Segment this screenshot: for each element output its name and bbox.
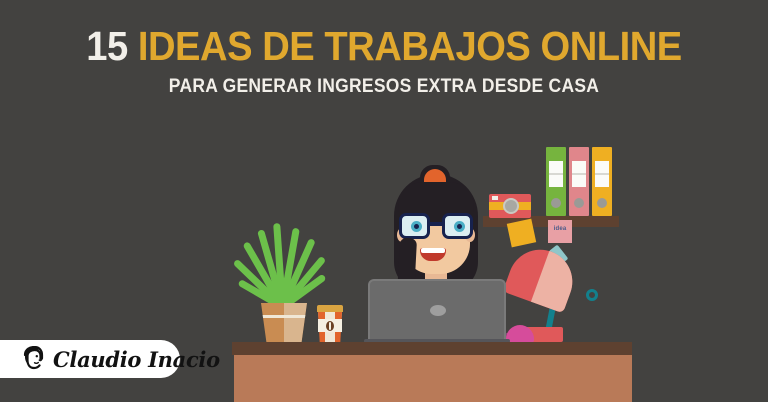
camera-flash bbox=[492, 196, 498, 200]
binder-label bbox=[595, 161, 609, 187]
binder-green bbox=[546, 147, 566, 216]
title-main: IDEAS DE TRABAJOS ONLINE bbox=[138, 23, 682, 69]
desk-front-panel bbox=[234, 355, 632, 402]
lamp-shade bbox=[503, 241, 582, 314]
face-profile-icon bbox=[22, 346, 46, 372]
graphic-canvas: 15 IDEAS DE TRABAJOS ONLINE PARA GENERAR… bbox=[0, 0, 768, 402]
binder-ring-icon bbox=[574, 198, 584, 208]
lamp-joint bbox=[586, 289, 598, 301]
camera-lens bbox=[503, 198, 519, 214]
sticky-note-text: idea bbox=[548, 226, 572, 232]
brand-logo[interactable]: Claudio Inacio bbox=[0, 340, 180, 378]
eye-left bbox=[411, 221, 422, 232]
cup-lid bbox=[317, 305, 343, 312]
binder-label bbox=[549, 161, 563, 187]
teeth bbox=[421, 248, 445, 253]
camera-icon bbox=[489, 194, 531, 218]
binder-label bbox=[572, 161, 586, 187]
binder-yellow bbox=[592, 147, 612, 216]
eye-right bbox=[454, 221, 465, 232]
pot-band bbox=[261, 315, 307, 318]
laptop-logo-icon bbox=[430, 305, 446, 316]
coffee-bean-icon bbox=[326, 321, 334, 331]
page-subtitle: PARA GENERAR INGRESOS EXTRA DESDE CASA bbox=[31, 76, 738, 98]
coffee-cup bbox=[317, 305, 343, 343]
glasses-bridge bbox=[430, 222, 442, 226]
binder-ring-icon bbox=[551, 198, 561, 208]
desk-surface bbox=[232, 342, 632, 355]
glasses-lens-left bbox=[399, 213, 430, 239]
eyeglasses-icon bbox=[399, 213, 473, 239]
lamp-shade-highlight bbox=[531, 251, 581, 313]
page-title: 15 IDEAS DE TRABAJOS ONLINE bbox=[27, 24, 741, 68]
binder-ring-icon bbox=[597, 198, 607, 208]
brand-name: Claudio Inacio bbox=[53, 347, 220, 372]
header: 15 IDEAS DE TRABAJOS ONLINE PARA GENERAR… bbox=[0, 0, 768, 115]
glasses-lens-right bbox=[442, 213, 473, 239]
sticky-note-pink: idea bbox=[548, 220, 572, 243]
mouse-body bbox=[506, 325, 534, 343]
plant-pot bbox=[261, 303, 307, 343]
title-number: 15 bbox=[86, 23, 127, 69]
binder-pink bbox=[569, 147, 589, 216]
laptop bbox=[368, 279, 506, 341]
potted-plant bbox=[238, 246, 328, 343]
sticky-note-orange bbox=[507, 219, 536, 248]
pot-highlight bbox=[284, 303, 307, 343]
